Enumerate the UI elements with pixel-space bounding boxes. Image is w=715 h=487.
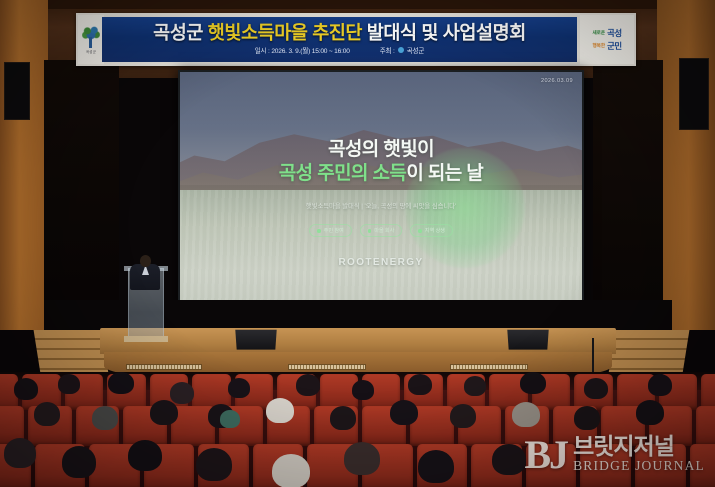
- audience-head: [196, 448, 232, 481]
- slogan-line2-big: 군민: [607, 40, 621, 52]
- audience-head: [62, 446, 96, 478]
- host-mark-icon: [398, 47, 404, 53]
- banner-host-label: 주최 :: [380, 45, 395, 55]
- headline-line-2: 곡성 주민의 소득이 되는 날: [279, 162, 483, 186]
- audience-head: [636, 400, 664, 425]
- stage-vent-grille: [450, 364, 528, 370]
- right-stage-curtain: [593, 60, 663, 340]
- watermark-korean: 브릿지저널: [573, 435, 705, 458]
- audience-head: [92, 406, 118, 430]
- wall-speaker-right-icon: [679, 58, 709, 130]
- audience-head: [34, 402, 60, 426]
- left-wall-panel: [0, 0, 48, 330]
- seat: [701, 374, 715, 410]
- banner-subtitle: 일시 : 2026. 3. 9.(월) 15:00 ~ 16:00 주최 : 곡…: [255, 45, 425, 55]
- audience-head: [520, 372, 546, 394]
- auditorium-photo: 곡성군 곡성군 햇빛소득마을 추진단 발대식 및 사업설명회 일시 : 2026…: [0, 0, 715, 487]
- presentation-slide: 2026.03.09 곡성의 햇빛이 곡성 주민의 소득이 되는 날 햇빛소득마…: [180, 72, 582, 308]
- audience-head: [170, 382, 194, 404]
- banner-title-plain: 곡성군: [153, 22, 208, 43]
- tree-emblem-icon: [81, 26, 101, 48]
- slide-pill: 지역 상생: [410, 224, 453, 237]
- banner-title-highlight: 햇빛소득마을 추진단: [208, 22, 362, 43]
- audience-head: [4, 438, 36, 468]
- audience-head: [266, 398, 294, 423]
- slide-subtitle: 햇빛소득마을 발대식 | '오늘, 곡성의 땅에 씨앗을 심습니다': [306, 201, 456, 210]
- audience-head: [648, 374, 672, 396]
- right-wall-panel: [657, 0, 715, 330]
- stage-monitor-speaker-right: [507, 330, 548, 350]
- audience-head: [464, 376, 486, 396]
- slide-pill: 주민 참여: [309, 224, 352, 237]
- audience-head: [228, 378, 250, 398]
- headline-line-2-green: 곡성 주민의 소득: [279, 163, 407, 184]
- audience-head: [450, 404, 476, 428]
- slogan-line1-small: 새로운: [592, 30, 605, 36]
- event-banner: 곡성군 곡성군 햇빛소득마을 추진단 발대식 및 사업설명회 일시 : 2026…: [76, 13, 636, 66]
- banner-host: 주최 : 곡성군: [380, 45, 425, 55]
- pill-bullet-icon: [368, 229, 372, 233]
- audience-head: [128, 440, 162, 471]
- audience-head: [574, 406, 600, 430]
- audience-head: [272, 454, 310, 487]
- pill-label: 지역 상생: [425, 227, 445, 234]
- audience-head: [150, 400, 178, 425]
- banner-host-name: 곡성군: [407, 45, 425, 55]
- watermark-english: BRIDGE JOURNAL: [573, 458, 705, 475]
- pill-label: 마을 회사: [374, 227, 394, 234]
- audience-head: [352, 380, 374, 400]
- stage-vent-grille: [126, 364, 202, 370]
- banner-title-tail: 발대식 및 사업설명회: [362, 22, 526, 43]
- pill-bullet-icon: [317, 229, 321, 233]
- banner-datetime: 일시 : 2026. 3. 9.(월) 15:00 ~ 16:00: [255, 45, 350, 55]
- audience-head: [220, 410, 240, 428]
- audience-head: [390, 400, 418, 425]
- projection-screen: 2026.03.09 곡성의 햇빛이 곡성 주민의 소득이 되는 날 햇빛소득마…: [178, 70, 584, 310]
- audience-head: [296, 374, 320, 396]
- wall-speaker-left-icon: [4, 62, 30, 120]
- bj-monogram-icon: BJ: [524, 438, 567, 472]
- banner-title: 곡성군 햇빛소득마을 추진단 발대식 및 사업설명회: [153, 24, 526, 43]
- audience-head: [512, 402, 540, 427]
- gokseong-emblem: 곡성군: [78, 15, 104, 64]
- left-stage-curtain: [44, 60, 119, 340]
- emblem-caption: 곡성군: [86, 49, 96, 54]
- audience-head: [418, 450, 454, 483]
- audience-head: [330, 406, 356, 430]
- slide-body: 곡성의 햇빛이 곡성 주민의 소득이 되는 날 햇빛소득마을 발대식 | '오늘…: [180, 72, 582, 308]
- audience-head: [14, 378, 38, 400]
- slide-headline: 곡성의 햇빛이 곡성 주민의 소득이 되는 날: [279, 138, 483, 187]
- ceiling-trim: [0, 0, 715, 9]
- podium-base: [124, 336, 168, 342]
- slogan-line1-big: 곡성: [607, 27, 621, 39]
- stage-vent-grille: [288, 364, 366, 370]
- county-slogan-logo: 새로운 곡성 행복한 군민: [580, 15, 634, 64]
- presenter-head: [140, 255, 151, 267]
- headline-line-2-white: 이 되는 날: [406, 163, 483, 184]
- audience-head: [492, 444, 526, 475]
- slide-pill-row: 주민 참여 마을 회사 지역 상생: [309, 224, 453, 237]
- rootenergy-logo: ROOTENERGY: [338, 257, 423, 268]
- pill-label: 주민 참여: [324, 227, 344, 234]
- headline-line-1: 곡성의 햇빛이: [279, 138, 483, 162]
- audience-head: [344, 442, 380, 475]
- stage-monitor-speaker-left: [235, 330, 276, 350]
- audience-head: [58, 374, 80, 394]
- slogan-line2-small: 행복한: [592, 43, 605, 49]
- slide-pill: 마을 회사: [360, 224, 403, 237]
- audience-head: [408, 374, 432, 395]
- bridge-journal-watermark: BJ 브릿지저널 BRIDGE JOURNAL: [524, 435, 705, 475]
- banner-content: 곡성군 햇빛소득마을 추진단 발대식 및 사업설명회 일시 : 2026. 3.…: [102, 17, 577, 62]
- pill-bullet-icon: [418, 229, 422, 233]
- audience-head: [584, 378, 608, 399]
- audience-head: [108, 372, 134, 394]
